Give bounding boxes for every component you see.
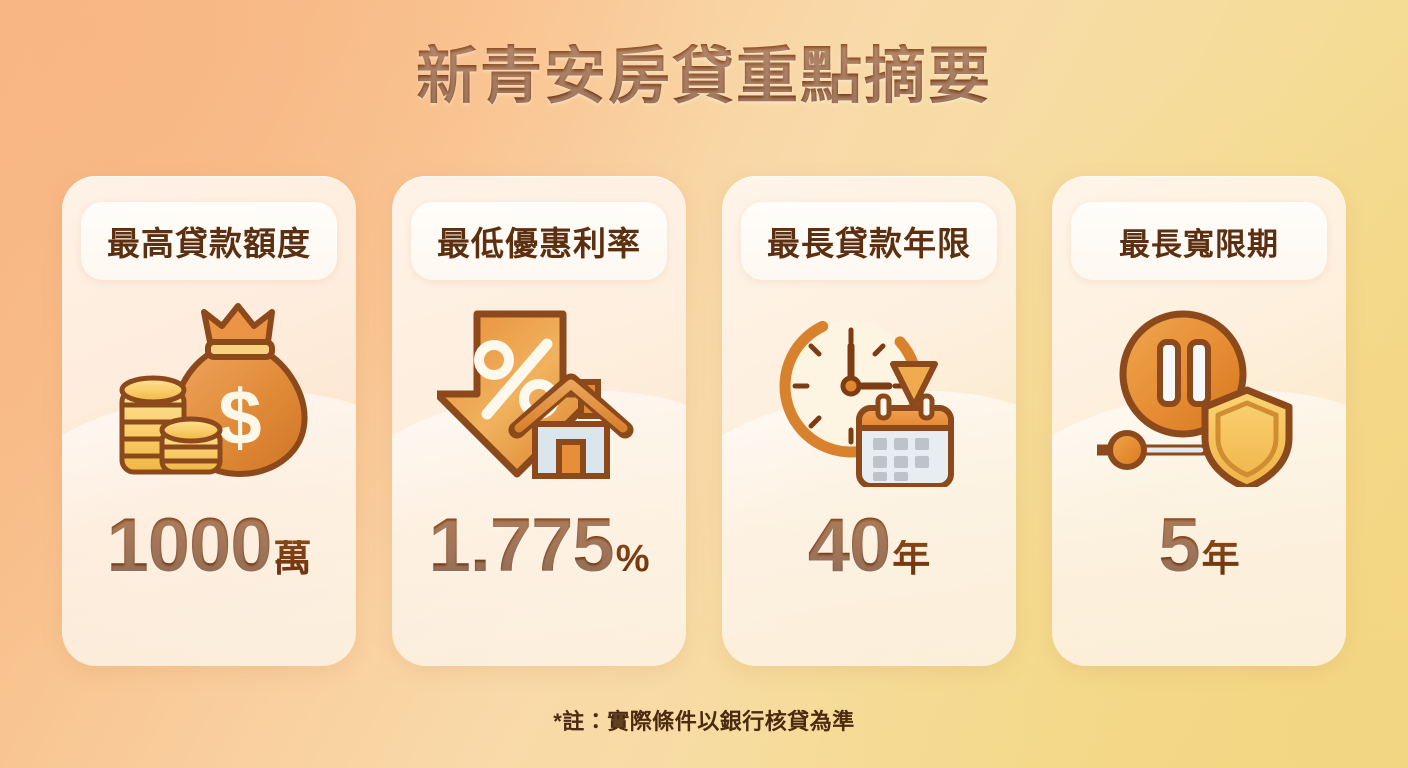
summary-card-row: 最高貸款額度: [62, 176, 1346, 666]
card-header-label: 最長寬限期: [1119, 219, 1279, 264]
card-value: 1000 萬: [106, 508, 311, 584]
card-value-unit: 年: [892, 540, 930, 578]
card-value-unit: 年: [1202, 540, 1240, 578]
card-value: 40 年: [808, 508, 931, 584]
card-header-label: 最低優惠利率: [437, 217, 641, 265]
card-lowest-interest-rate[interactable]: 最低優惠利率: [392, 176, 686, 666]
card-max-loan-term[interactable]: 最長貸款年限: [722, 176, 1016, 666]
card-header-pill: 最長寬限期: [1071, 202, 1327, 280]
card-header-pill: 最長貸款年限: [741, 202, 997, 280]
infographic-poster: 新青安房貸重點摘要 最高貸款額度: [0, 0, 1408, 768]
percent-down-arrow-house-icon: [424, 294, 654, 494]
card-value-number: 1.775: [429, 508, 614, 584]
footnote: *註：實際條件以銀行核貸為準: [0, 704, 1408, 736]
card-value-number: 40: [808, 508, 891, 584]
card-max-loan-amount[interactable]: 最高貸款額度: [62, 176, 356, 666]
svg-text:$: $: [218, 373, 261, 461]
page-title: 新青安房貸重點摘要: [0, 44, 1408, 109]
card-value-number: 1000: [106, 508, 271, 584]
card-value: 5 年: [1158, 508, 1239, 584]
clock-arrow-calendar-icon: [754, 294, 984, 494]
card-value-number: 5: [1158, 508, 1199, 584]
card-max-grace-period[interactable]: 最長寬限期: [1052, 176, 1346, 666]
card-value-unit: 萬: [274, 540, 312, 578]
pause-shield-slider-icon: [1084, 294, 1314, 494]
card-header-label: 最長貸款年限: [767, 217, 971, 265]
money-bag-coins-icon: $: [94, 294, 324, 494]
card-value: 1.775 %: [429, 508, 650, 584]
card-value-unit: %: [616, 540, 650, 578]
card-header-pill: 最低優惠利率: [411, 202, 667, 280]
card-header-label: 最高貸款額度: [107, 217, 311, 265]
card-header-pill: 最高貸款額度: [81, 202, 337, 280]
